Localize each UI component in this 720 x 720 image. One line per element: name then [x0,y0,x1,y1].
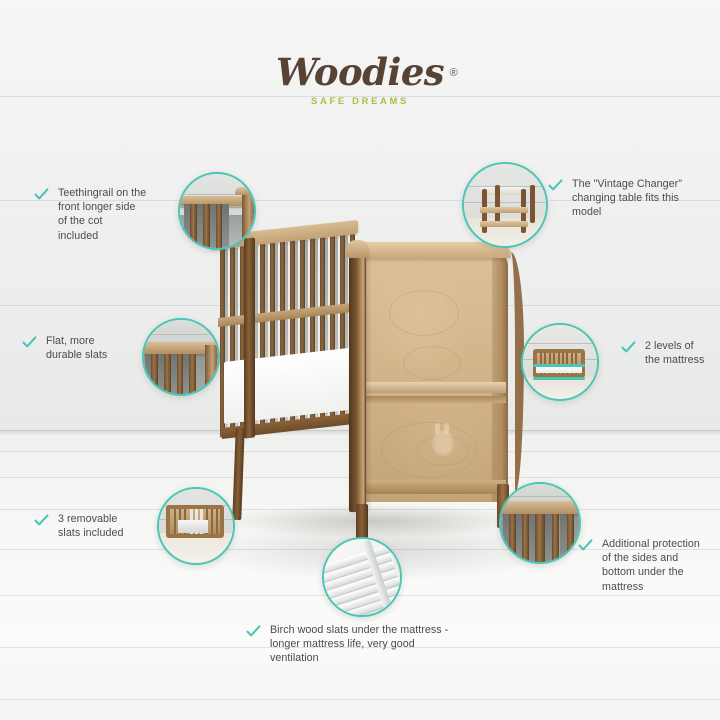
feature-label: Flat, more durable slats [46,334,107,362]
feature-label: The "Vintage Changer" changing table fit… [572,177,682,220]
check-icon [578,538,593,553]
cot-sleigh-curve [502,252,524,492]
check-icon [548,178,563,193]
feature-removable-slats: 3 removable slats included [34,512,150,540]
feature-flat-slats: Flat, more durable slats [22,334,140,362]
cot-center-leg [356,504,368,540]
cot-end-panel [363,250,508,502]
feature-label: Birch wood slats under the mattress - lo… [270,623,448,666]
cot-end-bottom-rail [365,480,506,494]
brand-tagline: SAFE DREAMS [0,95,720,106]
product-cot-image [210,232,536,542]
feature-label: 2 levels of the mattress [645,339,704,367]
callout-teething-rail-detail [178,172,256,250]
callout-side-protection-detail [499,482,581,564]
brand-name: Woodies ® [276,52,444,92]
brand-logo: Woodies ® SAFE DREAMS [0,52,720,106]
feature-label: 3 removable slats included [58,512,123,540]
callout-mattress-levels-detail [521,323,599,401]
check-icon [246,624,261,639]
check-icon [34,513,49,528]
cot-left-post [244,237,255,438]
feature-mattress-levels: 2 levels of the mattress [621,339,717,367]
mattress-level-indicator-lower [533,377,585,380]
callout-flat-slats-detail [142,318,220,396]
cot-corner-post-cap [346,240,369,258]
brand-name-text: Woodies [276,50,444,94]
cot-corner-post [349,250,366,512]
cot-shadow [220,504,530,538]
check-icon [621,340,636,355]
feature-label: Additional protection of the sides and b… [602,537,700,594]
check-icon [22,335,37,350]
callout-removable-slats-detail [157,487,235,565]
feature-label: Teethingrail on the front longer side of… [58,186,146,243]
cot-end-cross-rail-shadow [365,396,506,403]
mattress-level-indicator-upper [533,364,585,367]
callout-birch-slats-detail [322,537,402,617]
callout-changing-table-detail [462,162,548,248]
bunny-emblem-icon [432,430,454,456]
registered-trademark-icon: ® [449,53,457,93]
feature-vintage-changer: The "Vintage Changer" changing table fit… [548,177,716,220]
feature-teething-rail: Teethingrail on the front longer side of… [34,186,184,243]
cot-end-cross-rail [365,382,506,393]
check-icon [34,187,49,202]
feature-birch-slats: Birch wood slats under the mattress - lo… [246,623,484,666]
feature-side-protection: Additional protection of the sides and b… [578,537,718,594]
